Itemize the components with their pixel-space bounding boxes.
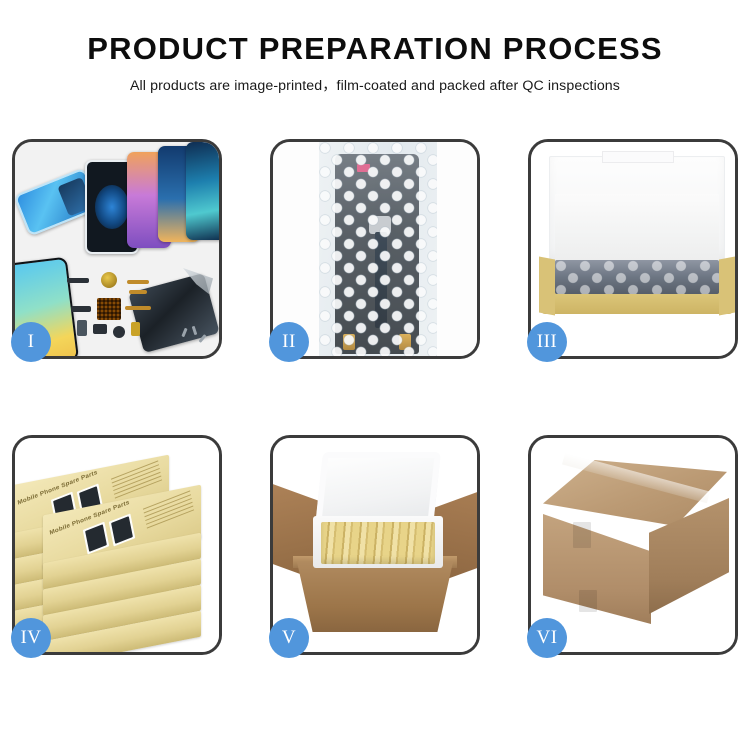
step-5-image xyxy=(273,438,477,652)
box-stack: Mobile Phone Spare Parts Mobile Phone Sp… xyxy=(15,444,219,652)
process-step-panel-3[interactable]: III xyxy=(528,139,738,359)
screws-group xyxy=(181,324,215,350)
process-step-panel-6[interactable]: VI xyxy=(528,435,738,655)
screw-3 xyxy=(198,334,206,343)
earpiece-mesh xyxy=(67,278,89,283)
page-subtitle: All products are image-printed，film-coat… xyxy=(0,75,750,95)
step-badge-1: I xyxy=(11,322,51,362)
flex-cable-3 xyxy=(125,306,151,310)
step-2-image xyxy=(273,142,477,356)
page-title: PRODUCT PREPARATION PROCESS xyxy=(0,33,750,66)
carton-seam-lower xyxy=(579,590,597,612)
screw-1 xyxy=(181,328,187,337)
small-parts-cluster xyxy=(67,272,177,352)
ic-chip-grid xyxy=(97,298,121,320)
page-header: PRODUCT PREPARATION PROCESS All products… xyxy=(0,0,750,95)
process-step-panel-5[interactable]: V xyxy=(270,435,480,655)
gradient-phone-display-3 xyxy=(186,142,219,240)
box-window-front-2 xyxy=(109,514,136,547)
vibration-motor xyxy=(101,272,117,288)
step-badge-6: VI xyxy=(527,618,567,658)
box-spec-lines-front xyxy=(143,490,195,533)
process-step-panel-2[interactable]: II xyxy=(270,139,480,359)
filler-bubble-texture xyxy=(555,260,719,294)
bubble-wrap-bag xyxy=(319,142,437,356)
step-6-image xyxy=(531,438,735,652)
speaker-module xyxy=(93,324,107,334)
step-1-image xyxy=(15,142,219,356)
bubble-wrap-filler xyxy=(555,260,719,294)
box-window-front-1 xyxy=(83,522,110,555)
process-step-panel-1[interactable]: I xyxy=(12,139,222,359)
foam-lid-open xyxy=(315,452,441,526)
step-badge-2: II xyxy=(269,322,309,362)
step-badge-5: V xyxy=(269,618,309,658)
step-badge-3: III xyxy=(527,322,567,362)
carton-body xyxy=(297,562,453,632)
gold-connector xyxy=(131,322,140,336)
flex-cable-2 xyxy=(129,290,147,294)
step-badge-4: IV xyxy=(11,618,51,658)
camera-module xyxy=(77,320,87,336)
process-step-panel-4[interactable]: Mobile Phone Spare Parts Mobile Phone Sp… xyxy=(12,435,222,655)
step-4-image: Mobile Phone Spare Parts Mobile Phone Sp… xyxy=(15,438,219,652)
antenna-strip xyxy=(71,306,91,312)
home-button xyxy=(113,326,125,338)
step-3-image xyxy=(531,142,735,356)
process-step-grid: I II xyxy=(12,139,738,679)
carton-seam-upper xyxy=(573,522,591,548)
packed-retail-boxes xyxy=(321,522,435,564)
screw-2 xyxy=(192,326,198,335)
flex-cable-1 xyxy=(127,280,149,284)
foam-sheet xyxy=(555,194,719,266)
bubble-wrap-highlight-texture xyxy=(319,142,437,356)
